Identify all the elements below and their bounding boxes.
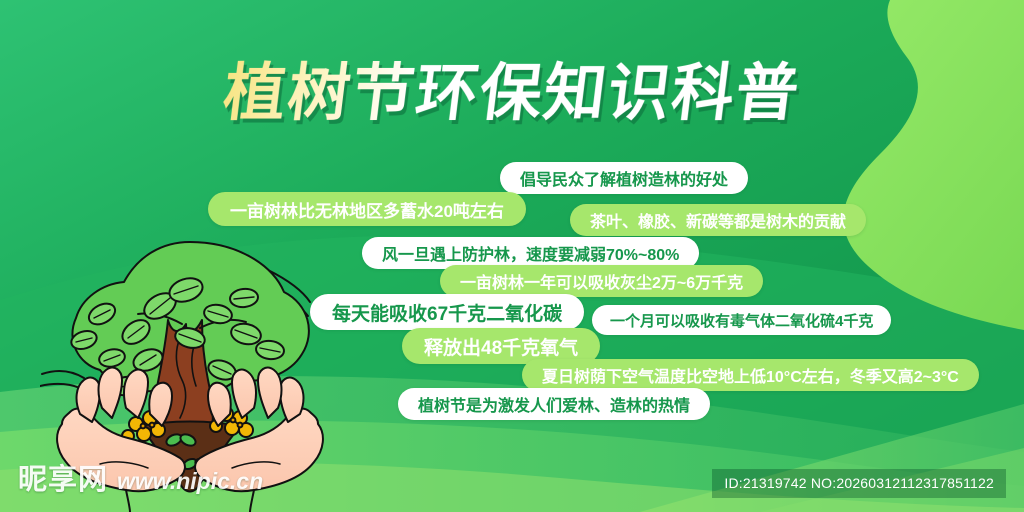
fact-pill-7[interactable]: 一个月可以吸收有毒气体二氧化硫4千克 xyxy=(592,305,891,335)
fact-pill-5[interactable]: 一亩树林一年可以吸收灰尘2万~6万千克 xyxy=(440,265,763,297)
fact-pill-9-label: 夏日树荫下空气温度比空地上低10°C左右，冬季又高2~3°C xyxy=(542,363,959,387)
fact-pill-2-label: 一亩树林比无林地区多蓄水20吨左右 xyxy=(230,197,504,222)
fact-pill-6-label: 每天能吸收67千克二氧化碳 xyxy=(332,299,562,326)
fact-pill-8-label: 释放出48千克氧气 xyxy=(424,333,578,360)
fact-pill-4-label: 风一旦遇上防护林，速度要减弱70%~80% xyxy=(382,241,679,265)
hands-holding-tree-illustration xyxy=(40,228,340,512)
fact-pill-10-label: 植树节是为激发人们爱林、造林的热情 xyxy=(418,392,690,416)
fact-pill-1[interactable]: 倡导民众了解植树造林的好处 xyxy=(500,162,748,194)
left-wrist xyxy=(126,490,130,512)
wind-lines-icon xyxy=(40,371,84,388)
poster-title-wrap: 植树节环保知识科普 xyxy=(0,58,1024,128)
page-title: 植树节环保知识科普 xyxy=(210,58,815,128)
image-id-bar: ID:21319742 NO:20260312112317851122 xyxy=(712,469,1006,498)
fact-pill-5-label: 一亩树林一年可以吸收灰尘2万~6万千克 xyxy=(460,269,743,293)
fact-pill-1-label: 倡导民众了解植树造林的好处 xyxy=(520,166,728,190)
fact-pill-3[interactable]: 茶叶、橡胶、新碳等都是树木的贡献 xyxy=(570,204,866,236)
fact-pill-10[interactable]: 植树节是为激发人们爱林、造林的热情 xyxy=(398,388,710,420)
fact-pill-2[interactable]: 一亩树林比无林地区多蓄水20吨左右 xyxy=(208,192,526,226)
poster-canvas: 植树节环保知识科普 倡导民众了解植树造林的好处 一亩树林比无林地区多蓄水20吨左… xyxy=(0,0,1024,512)
fact-pill-7-label: 一个月可以吸收有毒气体二氧化硫4千克 xyxy=(610,310,873,331)
right-wrist xyxy=(250,490,254,512)
fact-pill-3-label: 茶叶、橡胶、新碳等都是树木的贡献 xyxy=(590,208,846,232)
fact-pill-9[interactable]: 夏日树荫下空气温度比空地上低10°C左右，冬季又高2~3°C xyxy=(522,359,979,391)
fact-pill-6[interactable]: 每天能吸收67千克二氧化碳 xyxy=(310,294,584,330)
